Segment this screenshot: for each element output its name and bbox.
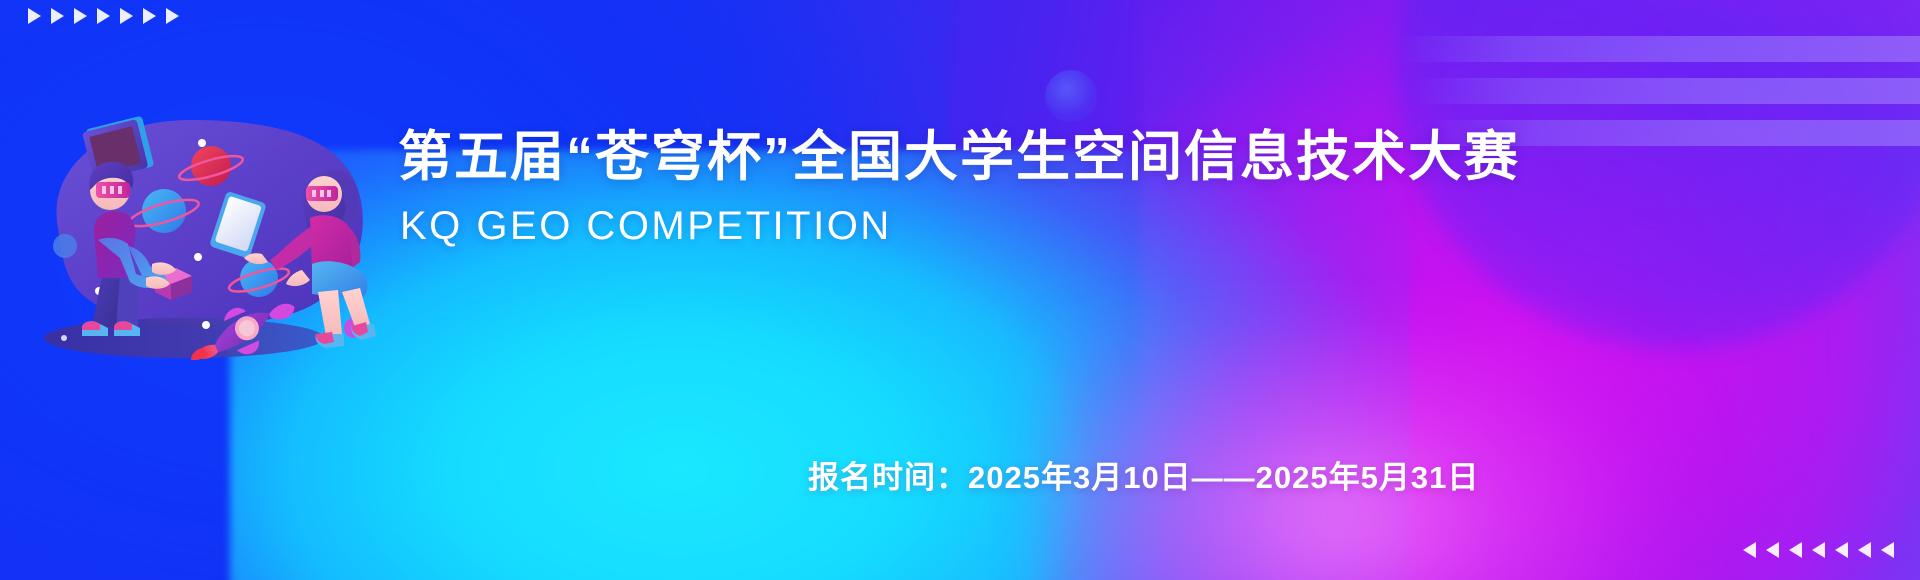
triangle-left-icon	[1858, 542, 1871, 558]
registration-period-text: 报名时间：2025年3月10日——2025年5月31日	[808, 452, 1479, 497]
triangle-left-icon	[1835, 542, 1848, 558]
triangle-left-icon	[1743, 542, 1756, 558]
competition-banner: 第五届“苍穹杯”全国大学生空间信息技术大赛 KQ GEO COMPETITION…	[0, 0, 1920, 580]
triangle-right-icon	[166, 8, 179, 24]
bottom-right-arrow-group	[1743, 542, 1894, 558]
triangle-left-icon	[1789, 542, 1802, 558]
triangle-left-icon	[1812, 542, 1825, 558]
top-left-arrow-group	[28, 8, 179, 24]
triangle-right-icon	[74, 8, 87, 24]
triangle-right-icon	[97, 8, 110, 24]
triangle-right-icon	[120, 8, 133, 24]
banner-text-block: 第五届“苍穹杯”全国大学生空间信息技术大赛 KQ GEO COMPETITION	[398, 128, 1818, 248]
background-moon-dot	[1045, 70, 1097, 122]
triangle-right-icon	[143, 8, 156, 24]
page-title: 第五届“苍穹杯”全国大学生空间信息技术大赛	[398, 128, 1818, 186]
triangle-right-icon	[28, 8, 41, 24]
triangle-left-icon	[1766, 542, 1779, 558]
vr-students-space-illustration	[16, 78, 376, 388]
banner-subtitle: KQ GEO COMPETITION	[400, 204, 1818, 248]
triangle-left-icon	[1881, 542, 1894, 558]
triangle-right-icon	[51, 8, 64, 24]
